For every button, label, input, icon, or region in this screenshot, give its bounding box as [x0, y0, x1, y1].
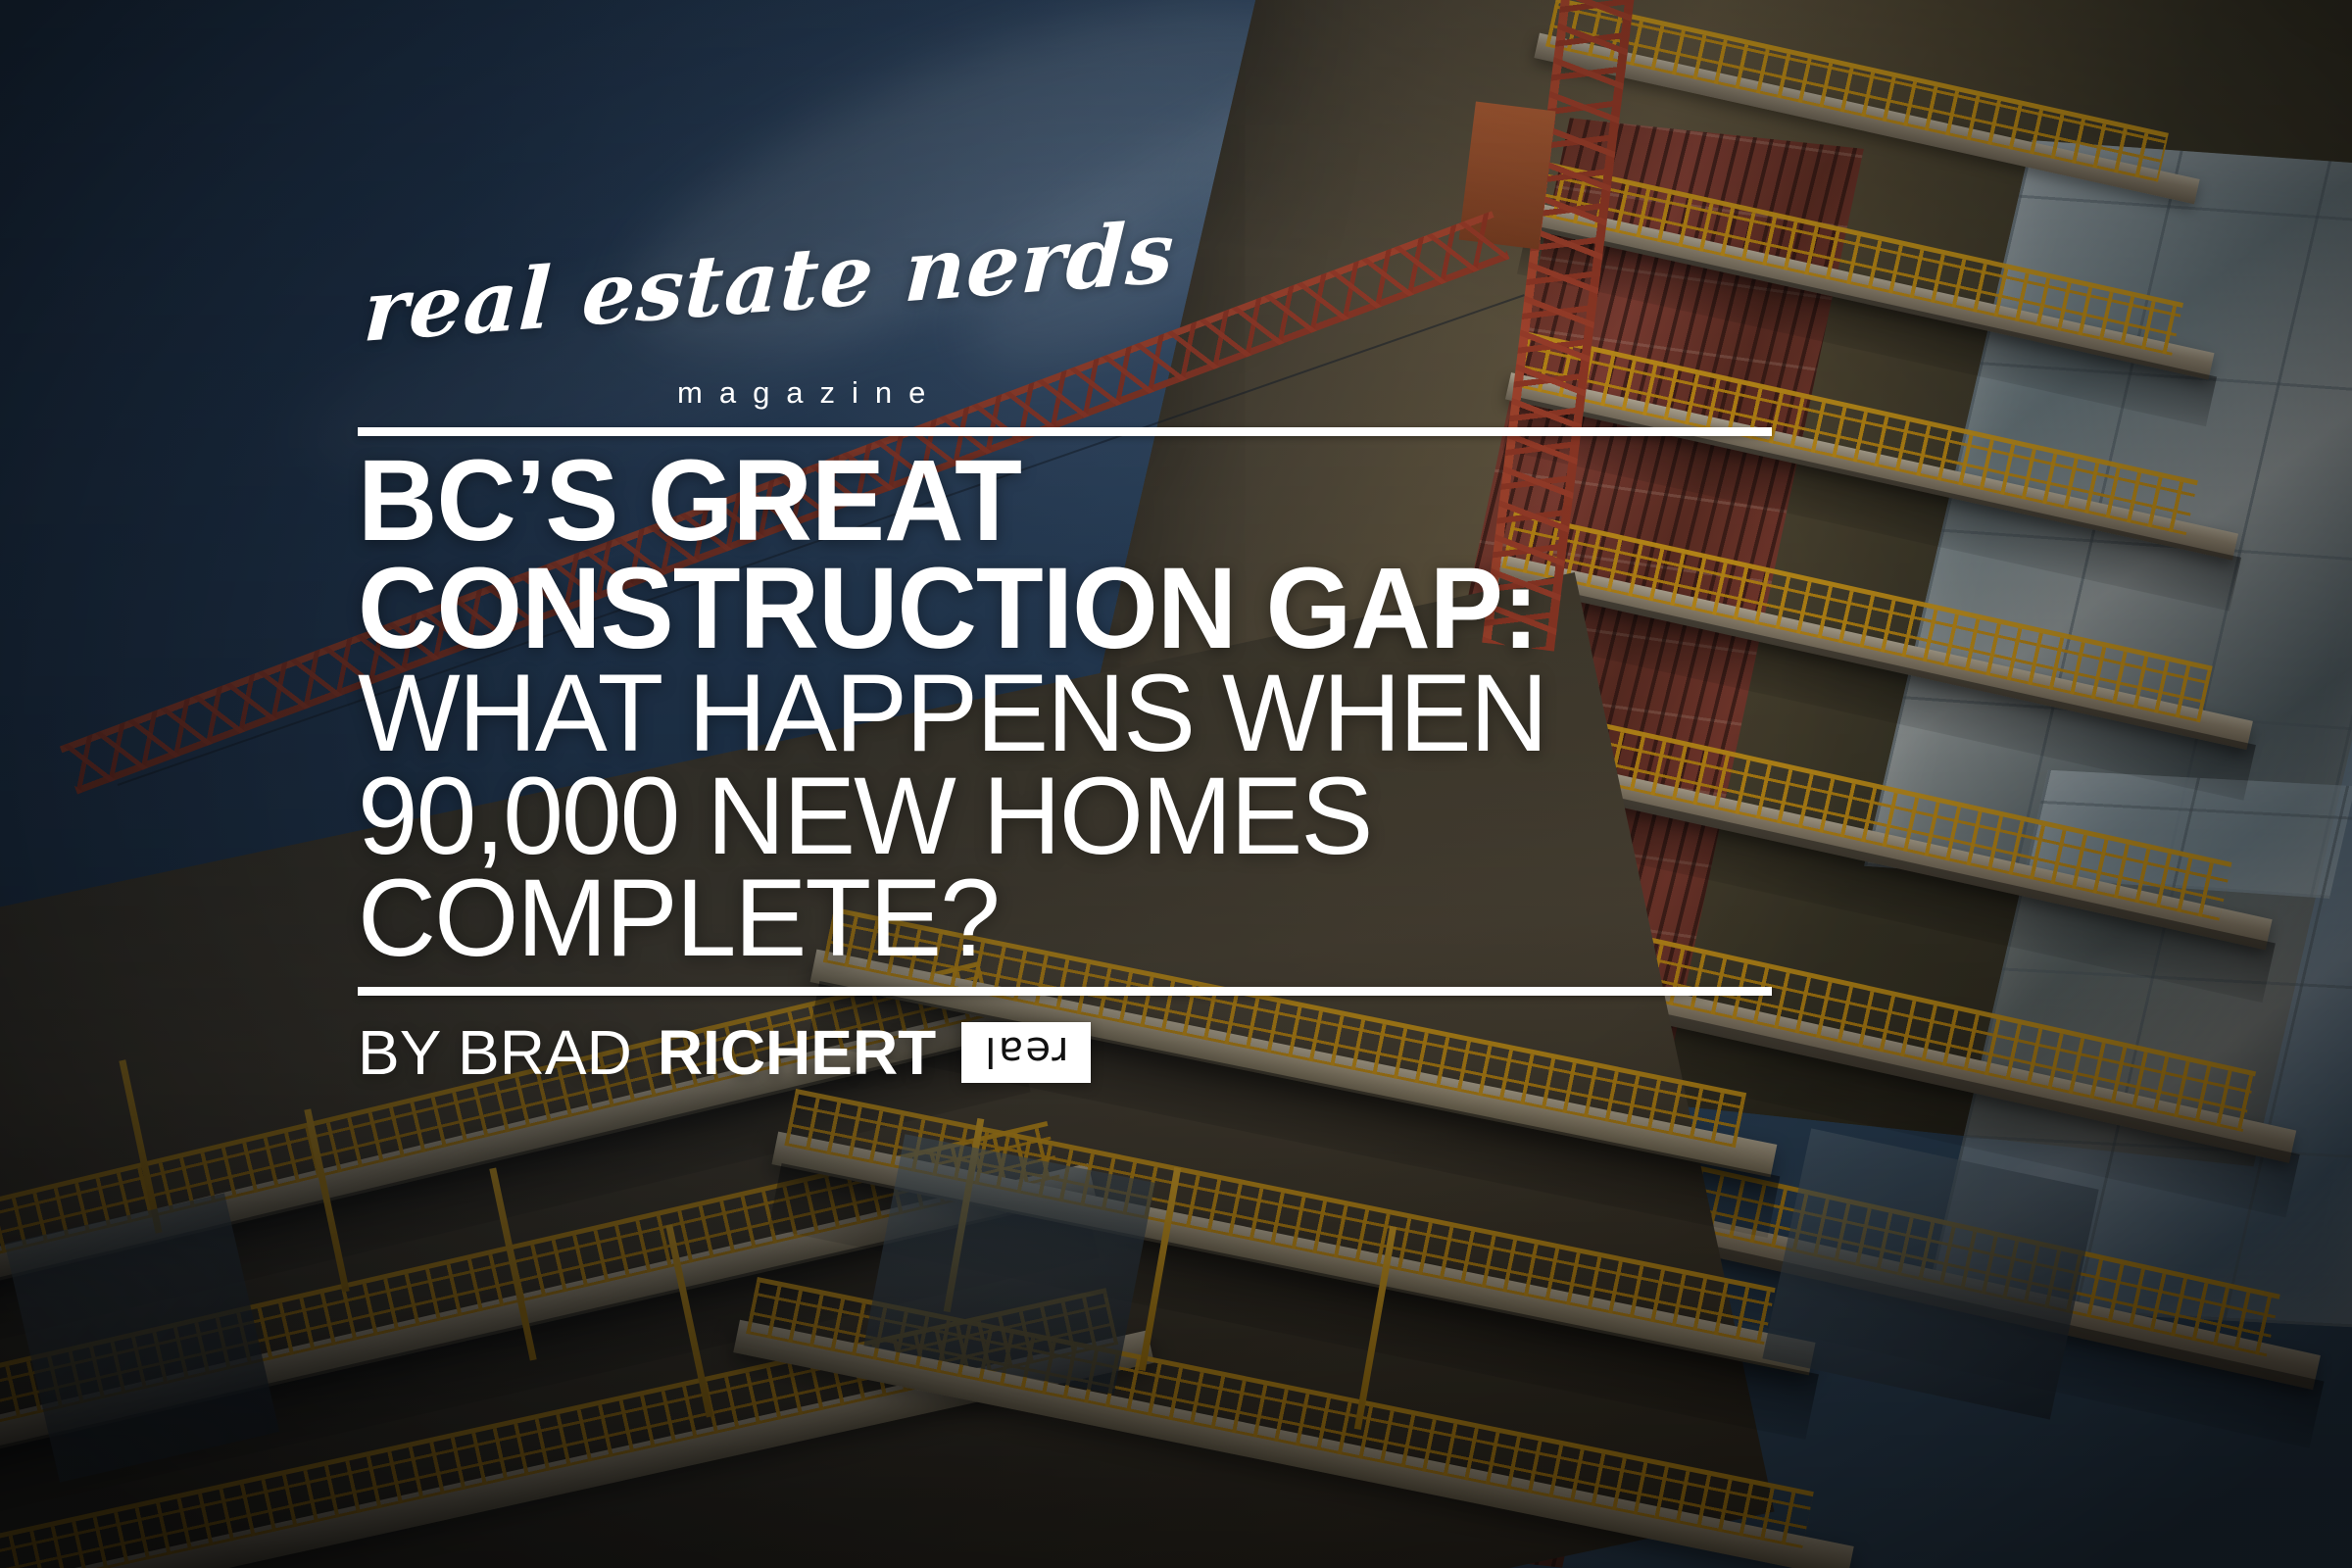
byline-prefix: BY BRAD — [358, 1021, 632, 1084]
real-brokerage-logo: real — [961, 1022, 1091, 1083]
cover-text-block: real estate nerds magazine BC’S GREAT CO… — [358, 276, 1774, 1084]
headline-line-1: BC’S GREAT — [358, 448, 1710, 556]
divider-top — [358, 427, 1772, 436]
magazine-cover: real estate nerds magazine BC’S GREAT CO… — [0, 0, 2352, 1568]
headline-line-4: 90,000 NEW HOMES — [358, 765, 1760, 867]
real-brokerage-logo-text: real — [983, 1031, 1069, 1072]
headline-line-3: WHAT HAPPENS WHEN — [358, 662, 1760, 764]
byline: BY BRAD RICHERT real — [358, 1021, 1774, 1084]
headline-line-2: CONSTRUCTION GAP: — [358, 556, 1710, 663]
divider-bottom — [358, 987, 1772, 996]
headline: BC’S GREAT CONSTRUCTION GAP: WHAT HAPPEN… — [358, 448, 1774, 969]
masthead: real estate nerds magazine — [358, 276, 1774, 423]
byline-author-name: RICHERT — [658, 1021, 936, 1084]
masthead-subtitle: magazine — [677, 377, 942, 408]
headline-line-5: COMPLETE? — [358, 867, 1760, 969]
